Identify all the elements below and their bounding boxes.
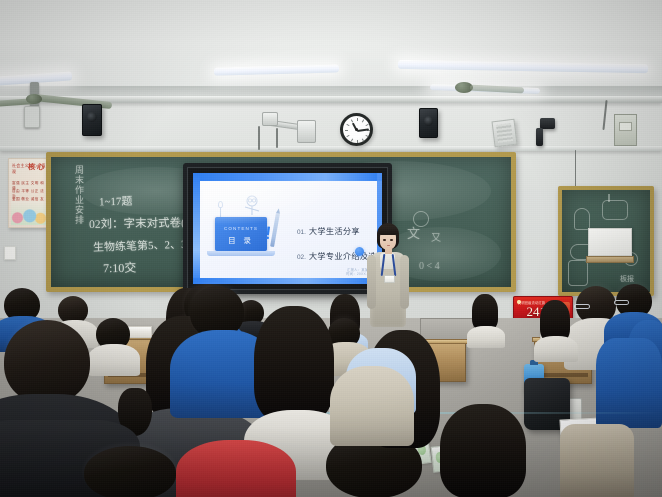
student-lower-body <box>560 424 634 497</box>
chalk-line: 7:10交 <box>103 259 137 277</box>
agenda-item-text: 大学生活分享 <box>309 225 360 237</box>
student-shoulders <box>176 440 296 497</box>
presentation-slide: CONTENTS 目 录 ! 01. 大学生活分享 02. 大学专业介绍及选科建… <box>193 173 382 284</box>
clock-tick <box>346 135 349 137</box>
presenter <box>366 223 410 327</box>
ceiling-fan-hub <box>26 94 42 104</box>
stick-figure-doodle <box>239 195 261 219</box>
paper-holder-ledge <box>586 256 634 263</box>
student-shoulders <box>88 344 140 376</box>
clock-tick <box>365 124 368 126</box>
clock-tick <box>350 138 352 141</box>
chalk-circle-doodle <box>413 211 429 227</box>
wall-switch-plate <box>4 246 16 260</box>
student-long-hair <box>440 404 526 497</box>
chalk-line: 1~17题 <box>99 193 133 210</box>
student-shoulders <box>534 336 578 362</box>
core-values-poster: 社会主义核心价值观 核 心 富强 民主 文明 和谐 自由 平等 公正 法治 爱国… <box>8 158 48 228</box>
leaf-stem-doodle <box>220 208 221 217</box>
glasses-icon <box>614 300 629 305</box>
student-shoulders <box>330 366 414 446</box>
presenter-arm-left <box>367 255 376 309</box>
clock-tick <box>365 135 368 137</box>
clock-tick <box>367 130 370 131</box>
clock-tick <box>361 119 363 122</box>
student-head <box>4 320 90 404</box>
presenter-eye <box>383 239 386 241</box>
chalk-robot-head <box>602 200 628 220</box>
presenter-name-badge <box>384 275 395 283</box>
wall-speaker-right <box>419 108 438 138</box>
blackboard-side: 板报 <box>558 186 654 296</box>
classroom-photo: 社会主义核心价值观 核 心 富强 民主 文明 和谐 自由 平等 公正 法治 爱国… <box>0 0 662 497</box>
projector-cable <box>276 128 278 148</box>
laptop-base <box>207 251 275 256</box>
student-long-hair <box>254 306 334 422</box>
wall-speaker-left <box>82 104 102 136</box>
pencil-graphic <box>270 213 280 247</box>
presenter-mouth <box>387 245 391 246</box>
contents-english-label: CONTENTS <box>215 226 267 231</box>
slide-accent-dot <box>355 247 364 256</box>
camera-mount <box>536 128 543 146</box>
presenter-bangs <box>378 226 398 235</box>
security-camera <box>540 118 555 129</box>
clock-tick <box>361 138 363 141</box>
speaker-grill <box>496 123 513 143</box>
slide-left-accent <box>193 173 200 284</box>
fan-controller-box <box>24 106 40 128</box>
electrical-panel <box>614 114 637 146</box>
leaf-doodle <box>218 201 223 208</box>
chalk-plant <box>574 208 590 230</box>
projector-head <box>262 112 278 126</box>
chalk-antenna <box>608 194 610 202</box>
posted-paper <box>588 228 632 256</box>
slide-bottom-accent <box>193 278 382 284</box>
clock-tick <box>345 130 348 131</box>
student-head <box>84 446 176 497</box>
meter-dial <box>619 122 632 131</box>
contents-laptop-graphic: CONTENTS 目 录 <box>215 217 267 251</box>
clock-tick <box>357 140 358 143</box>
clock-center-pin <box>355 128 358 131</box>
chalk-mark: 0 < 4 <box>419 261 440 272</box>
presenter-eye <box>390 239 393 241</box>
wall-clock <box>340 113 373 146</box>
speaker-cone <box>424 116 434 126</box>
projector-cable <box>258 126 260 150</box>
student-long-hair <box>472 294 498 330</box>
side-board-caption: 板报 <box>620 274 634 284</box>
wall-trim-rail-lower <box>0 146 662 151</box>
projector-wall-plate <box>297 120 316 143</box>
pa-speaker <box>492 119 518 148</box>
agenda-item-number: 02. <box>297 254 306 261</box>
poster-highlight: 核 心 <box>28 162 44 172</box>
desk-shelf <box>538 373 588 377</box>
presenter-arm-right <box>400 255 409 309</box>
agenda-item-number: 01. <box>297 229 306 236</box>
glasses-icon <box>574 304 590 309</box>
slide-top-accent <box>193 173 382 181</box>
poster-illustration <box>11 201 47 225</box>
student-shoulders <box>596 338 662 428</box>
interactive-display[interactable]: CONTENTS 目 录 ! 01. 大学生活分享 02. 大学专业介绍及选科建… <box>183 163 392 294</box>
clock-tick <box>346 124 349 126</box>
contents-chinese-label: 目 录 <box>215 235 267 246</box>
chalk-vertical-note: 周末作业安排 <box>73 165 86 277</box>
chalk-decoration <box>568 260 588 286</box>
student-shoulders <box>467 326 505 348</box>
speaker-cone <box>87 112 97 122</box>
chalk-mark: 又 <box>431 229 441 244</box>
clock-tick <box>357 118 358 121</box>
